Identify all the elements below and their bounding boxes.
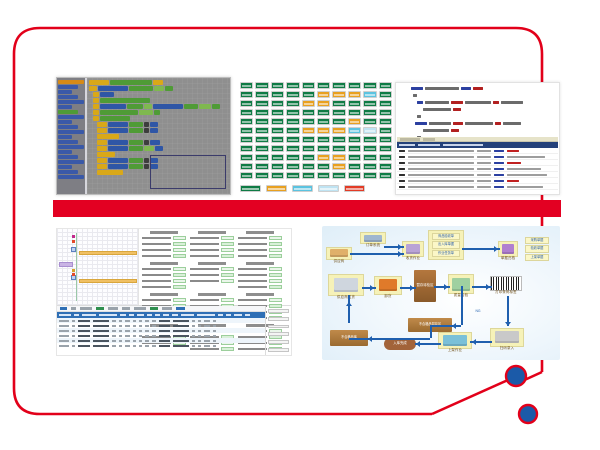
block-0-1[interactable] (110, 80, 152, 85)
status-cell-85[interactable] (317, 154, 330, 161)
palette-block-9[interactable] (58, 125, 78, 129)
form-row-1-2[interactable] (190, 248, 234, 252)
status-cell-69[interactable] (379, 136, 392, 143)
status-cell-52[interactable] (271, 127, 284, 134)
form-row-5-2[interactable] (238, 279, 282, 283)
block-7-0[interactable] (97, 122, 107, 127)
block-10-1[interactable] (108, 140, 128, 145)
block-8-0[interactable] (97, 128, 107, 133)
status-cell-4[interactable] (302, 82, 315, 89)
status-cell-90[interactable] (240, 163, 253, 170)
block-row-2[interactable] (93, 92, 228, 97)
palette-block-18[interactable] (58, 170, 78, 174)
form-group-13[interactable] (190, 355, 234, 356)
status-cell-61[interactable] (255, 136, 268, 143)
status-cell-31[interactable] (255, 109, 268, 116)
status-cell-26[interactable] (332, 100, 345, 107)
status-cell-76[interactable] (332, 145, 345, 152)
table-col-header-4[interactable] (120, 314, 126, 316)
table-col-header-16[interactable] (245, 314, 250, 316)
block-4-6[interactable] (199, 104, 211, 109)
palette-block-5[interactable] (58, 105, 72, 109)
table-col-header-2[interactable] (82, 314, 96, 316)
palette-block-12[interactable] (58, 140, 78, 144)
status-cell-55[interactable] (317, 127, 330, 134)
status-cell-9[interactable] (379, 82, 392, 89)
status-cell-0[interactable] (240, 82, 253, 89)
toolbar-chip-0[interactable] (60, 307, 67, 310)
status-cell-99[interactable] (379, 163, 392, 170)
block-10-3[interactable] (144, 140, 149, 145)
status-cell-20[interactable] (240, 100, 253, 107)
table-side-buttons[interactable] (265, 306, 291, 355)
block-11-4[interactable] (155, 146, 163, 151)
status-cell-13[interactable] (286, 91, 299, 98)
block-1-3[interactable] (154, 86, 164, 91)
block-11-2[interactable] (129, 146, 143, 151)
palette-block-11[interactable] (58, 135, 72, 139)
block-15-0[interactable] (97, 170, 123, 175)
form-row-1-1[interactable] (190, 242, 234, 246)
status-cell-5[interactable] (317, 82, 330, 89)
form-row-4-2[interactable] (190, 279, 234, 283)
status-cell-1[interactable] (255, 82, 268, 89)
form-value[interactable] (269, 248, 282, 252)
status-cell-75[interactable] (317, 145, 330, 152)
status-cell-16[interactable] (332, 91, 345, 98)
form-value[interactable] (173, 242, 186, 246)
form-value[interactable] (269, 279, 282, 283)
form-data-blocks[interactable] (139, 229, 291, 305)
gantt-bar-1[interactable] (79, 279, 137, 283)
palette-block-4[interactable] (58, 100, 84, 104)
table-row[interactable] (57, 343, 265, 348)
block-2-0[interactable] (93, 92, 99, 97)
status-cell-59[interactable] (379, 127, 392, 134)
status-cell-58[interactable] (363, 127, 376, 134)
table-side-button-2[interactable] (268, 325, 289, 329)
toolbar-chip-6[interactable] (134, 307, 146, 310)
status-cell-106[interactable] (332, 172, 345, 179)
form-value[interactable] (269, 267, 282, 271)
table-col-header-13[interactable] (218, 314, 223, 316)
block-7-1[interactable] (108, 122, 128, 127)
form-row-2-2[interactable] (238, 248, 282, 252)
form-value[interactable] (221, 248, 234, 252)
form-group-1[interactable] (190, 231, 234, 260)
form-value[interactable] (269, 298, 282, 302)
block-5-1[interactable] (100, 110, 138, 115)
form-value[interactable] (173, 236, 186, 240)
block-14-1[interactable] (108, 164, 128, 169)
form-value[interactable] (173, 279, 186, 283)
table-col-header-10[interactable] (172, 314, 178, 316)
status-cell-46[interactable] (332, 118, 345, 125)
block-4-3[interactable] (144, 104, 152, 109)
status-cell-72[interactable] (271, 145, 284, 152)
form-value[interactable] (269, 273, 282, 277)
form-group-4[interactable] (190, 262, 234, 291)
form-row-0-0[interactable] (142, 236, 186, 240)
form-group-12[interactable] (142, 355, 186, 356)
status-cell-43[interactable] (286, 118, 299, 125)
status-cell-62[interactable] (271, 136, 284, 143)
block-9-0[interactable] (97, 134, 119, 139)
block-10-4[interactable] (150, 140, 160, 145)
log-row-6[interactable] (397, 184, 558, 190)
form-value[interactable] (221, 279, 234, 283)
status-cell-21[interactable] (255, 100, 268, 107)
log-row-list[interactable] (397, 148, 558, 190)
status-cell-91[interactable] (255, 163, 268, 170)
status-grid[interactable] (240, 82, 392, 179)
palette-block-15[interactable] (58, 155, 78, 159)
form-row-5-1[interactable] (238, 273, 282, 277)
form-row-6-0[interactable] (142, 298, 186, 302)
status-cell-100[interactable] (240, 172, 253, 179)
table-col-header-6[interactable] (137, 314, 144, 316)
block-6-0[interactable] (93, 116, 99, 121)
status-cell-81[interactable] (255, 154, 268, 161)
block-row-1[interactable] (89, 86, 228, 91)
form-row-2-1[interactable] (238, 242, 282, 246)
status-cell-47[interactable] (348, 118, 361, 125)
form-row-1-3[interactable] (190, 254, 234, 258)
form-value[interactable] (221, 273, 234, 277)
table-side-button-1[interactable] (268, 317, 289, 321)
status-cell-12[interactable] (271, 91, 284, 98)
table-side-button-3[interactable] (268, 332, 289, 336)
form-value[interactable] (173, 267, 186, 271)
status-cell-92[interactable] (271, 163, 284, 170)
form-group-14[interactable] (238, 355, 282, 356)
status-cell-87[interactable] (348, 154, 361, 161)
status-cell-17[interactable] (348, 91, 361, 98)
block-10-2[interactable] (129, 140, 143, 145)
table-side-button-4[interactable] (268, 340, 289, 344)
status-cell-68[interactable] (363, 136, 376, 143)
block-8-1[interactable] (108, 128, 128, 133)
form-group-0[interactable] (142, 231, 186, 260)
form-value[interactable] (173, 285, 186, 289)
block-5-0[interactable] (93, 110, 99, 115)
palette-block-19[interactable] (58, 175, 84, 179)
block-row-0[interactable] (89, 80, 228, 85)
status-cell-108[interactable] (363, 172, 376, 179)
status-cell-73[interactable] (286, 145, 299, 152)
status-cell-23[interactable] (286, 100, 299, 107)
form-row-2-3[interactable] (238, 254, 282, 258)
block-row-5[interactable] (93, 110, 228, 115)
table-col-header-15[interactable] (234, 314, 242, 316)
form-value[interactable] (269, 236, 282, 240)
block-2-1[interactable] (100, 92, 114, 97)
table-side-button-0[interactable] (268, 309, 289, 313)
form-value[interactable] (173, 273, 186, 277)
block-row-11[interactable] (97, 146, 228, 151)
status-cell-53[interactable] (286, 127, 299, 134)
status-cell-8[interactable] (363, 82, 376, 89)
block-13-3[interactable] (144, 158, 149, 163)
status-cell-88[interactable] (363, 154, 376, 161)
status-cell-93[interactable] (286, 163, 299, 170)
block-row-8[interactable] (97, 128, 228, 133)
code-text-area[interactable] (396, 83, 559, 137)
blocks-workspace[interactable] (87, 78, 230, 194)
status-cell-34[interactable] (302, 109, 315, 116)
form-row-7-0[interactable] (190, 298, 234, 302)
toolbar-chip-9[interactable] (176, 307, 185, 310)
status-cell-101[interactable] (255, 172, 268, 179)
block-12-0[interactable] (97, 152, 115, 157)
block-7-3[interactable] (144, 122, 149, 127)
block-3-1[interactable] (100, 98, 150, 103)
table-col-header-14[interactable] (226, 314, 231, 316)
gantt-node-0[interactable] (71, 247, 76, 252)
block-4-2[interactable] (127, 104, 143, 109)
form-value[interactable] (221, 236, 234, 240)
status-cell-22[interactable] (271, 100, 284, 107)
status-cell-37[interactable] (348, 109, 361, 116)
toolbar-chip-2[interactable] (80, 307, 92, 310)
status-cell-42[interactable] (271, 118, 284, 125)
status-cell-86[interactable] (332, 154, 345, 161)
form-row-5-3[interactable] (238, 285, 282, 289)
block-5-2[interactable] (139, 110, 153, 115)
block-4-4[interactable] (153, 104, 183, 109)
status-cell-19[interactable] (379, 91, 392, 98)
toolbar-chip-7[interactable] (150, 307, 158, 310)
status-cell-32[interactable] (271, 109, 284, 116)
table-col-header-0[interactable] (59, 314, 71, 316)
palette-block-1[interactable] (58, 85, 78, 89)
palette-block-2[interactable] (58, 90, 72, 94)
form-group-5[interactable] (238, 262, 282, 291)
palette-block-7[interactable] (58, 115, 84, 119)
form-row-8-0[interactable] (238, 298, 282, 302)
block-4-1[interactable] (100, 104, 126, 109)
status-cell-15[interactable] (317, 91, 330, 98)
status-cell-57[interactable] (348, 127, 361, 134)
palette-block-14[interactable] (58, 150, 72, 154)
status-cell-7[interactable] (348, 82, 361, 89)
toolbar-chip-8[interactable] (162, 307, 172, 310)
block-8-4[interactable] (150, 128, 158, 133)
status-cell-95[interactable] (317, 163, 330, 170)
form-row-3-0[interactable] (142, 267, 186, 271)
status-cell-104[interactable] (302, 172, 315, 179)
status-cell-40[interactable] (240, 118, 253, 125)
block-14-0[interactable] (97, 164, 107, 169)
status-cell-67[interactable] (348, 136, 361, 143)
form-row-4-1[interactable] (190, 273, 234, 277)
status-cell-38[interactable] (363, 109, 376, 116)
status-cell-3[interactable] (286, 82, 299, 89)
status-cell-35[interactable] (317, 109, 330, 116)
form-value[interactable] (269, 242, 282, 246)
status-cell-54[interactable] (302, 127, 315, 134)
status-cell-41[interactable] (255, 118, 268, 125)
status-cell-109[interactable] (379, 172, 392, 179)
table-col-header-1[interactable] (74, 314, 79, 316)
table-col-header-9[interactable] (163, 314, 169, 316)
toolbar-chip-4[interactable] (108, 307, 118, 310)
record-table[interactable] (57, 306, 265, 355)
status-cell-105[interactable] (317, 172, 330, 179)
block-0-0[interactable] (89, 80, 109, 85)
status-cell-24[interactable] (302, 100, 315, 107)
toolbar-chip-3[interactable] (96, 307, 104, 310)
block-8-3[interactable] (144, 128, 149, 133)
form-value[interactable] (173, 298, 186, 302)
table-col-header-11[interactable] (181, 314, 194, 316)
form-value[interactable] (269, 254, 282, 258)
block-4-0[interactable] (93, 104, 99, 109)
block-3-0[interactable] (93, 98, 99, 103)
status-cell-103[interactable] (286, 172, 299, 179)
block-row-10[interactable] (97, 140, 228, 145)
block-7-2[interactable] (129, 122, 143, 127)
status-cell-70[interactable] (240, 145, 253, 152)
block-row-6[interactable] (93, 116, 228, 121)
status-cell-77[interactable] (348, 145, 361, 152)
table-col-header-12[interactable] (197, 314, 215, 316)
status-cell-64[interactable] (302, 136, 315, 143)
status-cell-48[interactable] (363, 118, 376, 125)
form-value[interactable] (269, 285, 282, 289)
form-row-0-3[interactable] (142, 254, 186, 258)
status-cell-71[interactable] (255, 145, 268, 152)
palette-block-0[interactable] (58, 80, 84, 84)
block-0-2[interactable] (153, 80, 163, 85)
status-cell-44[interactable] (302, 118, 315, 125)
status-cell-84[interactable] (302, 154, 315, 161)
blocks-palette[interactable] (57, 78, 87, 194)
toolbar-chip-5[interactable] (122, 307, 130, 310)
status-cell-56[interactable] (332, 127, 345, 134)
status-cell-39[interactable] (379, 109, 392, 116)
block-row-9[interactable] (97, 134, 228, 139)
form-value[interactable] (221, 254, 234, 258)
block-11-1[interactable] (108, 146, 128, 151)
table-col-header-8[interactable] (155, 314, 160, 316)
table-col-header-5[interactable] (129, 314, 134, 316)
form-row-3-1[interactable] (142, 273, 186, 277)
status-cell-29[interactable] (379, 100, 392, 107)
status-cell-14[interactable] (302, 91, 315, 98)
status-cell-30[interactable] (240, 109, 253, 116)
block-row-3[interactable] (93, 98, 228, 103)
palette-block-16[interactable] (58, 160, 84, 164)
status-cell-49[interactable] (379, 118, 392, 125)
form-row-1-0[interactable] (190, 236, 234, 240)
status-cell-25[interactable] (317, 100, 330, 107)
status-cell-89[interactable] (379, 154, 392, 161)
status-cell-6[interactable] (332, 82, 345, 89)
status-cell-2[interactable] (271, 82, 284, 89)
block-row-7[interactable] (97, 122, 228, 127)
status-cell-83[interactable] (286, 154, 299, 161)
status-cell-45[interactable] (317, 118, 330, 125)
status-cell-96[interactable] (332, 163, 345, 170)
status-cell-94[interactable] (302, 163, 315, 170)
form-row-4-0[interactable] (190, 267, 234, 271)
table-col-header-3[interactable] (99, 314, 117, 316)
palette-block-8[interactable] (58, 120, 72, 124)
form-value[interactable] (221, 267, 234, 271)
status-cell-80[interactable] (240, 154, 253, 161)
table-col-header-7[interactable] (147, 314, 152, 316)
table-body[interactable] (57, 318, 265, 348)
form-group-2[interactable] (238, 231, 282, 260)
form-value[interactable] (173, 254, 186, 258)
status-cell-74[interactable] (302, 145, 315, 152)
status-cell-97[interactable] (348, 163, 361, 170)
block-7-4[interactable] (150, 122, 158, 127)
block-11-3[interactable] (144, 146, 154, 151)
status-cell-65[interactable] (317, 136, 330, 143)
form-row-2-0[interactable] (238, 236, 282, 240)
block-4-5[interactable] (184, 104, 198, 109)
status-cell-50[interactable] (240, 127, 253, 134)
palette-block-3[interactable] (58, 95, 78, 99)
block-1-4[interactable] (165, 86, 173, 91)
palette-block-17[interactable] (58, 165, 72, 169)
status-cell-33[interactable] (286, 109, 299, 116)
palette-block-10[interactable] (58, 130, 84, 134)
status-cell-78[interactable] (363, 145, 376, 152)
gantt-chart[interactable] (57, 229, 139, 305)
status-cell-27[interactable] (348, 100, 361, 107)
block-6-1[interactable] (100, 116, 130, 121)
status-cell-10[interactable] (240, 91, 253, 98)
block-5-3[interactable] (154, 110, 160, 115)
form-row-3-2[interactable] (142, 279, 186, 283)
form-row-0-1[interactable] (142, 242, 186, 246)
table-side-button-5[interactable] (268, 348, 289, 352)
block-11-0[interactable] (97, 146, 107, 151)
status-cell-66[interactable] (332, 136, 345, 143)
toolbar-chip-1[interactable] (71, 307, 76, 310)
palette-block-13[interactable] (58, 145, 84, 149)
status-cell-51[interactable] (255, 127, 268, 134)
status-cell-102[interactable] (271, 172, 284, 179)
status-cell-107[interactable] (348, 172, 361, 179)
status-cell-79[interactable] (379, 145, 392, 152)
form-row-5-0[interactable] (238, 267, 282, 271)
form-row-0-2[interactable] (142, 248, 186, 252)
form-value[interactable] (173, 248, 186, 252)
form-value[interactable] (221, 298, 234, 302)
form-row-3-3[interactable] (142, 285, 186, 289)
block-13-0[interactable] (97, 158, 107, 163)
block-row-4[interactable] (93, 104, 228, 109)
status-cell-98[interactable] (363, 163, 376, 170)
block-13-1[interactable] (108, 158, 128, 163)
block-14-2[interactable] (129, 164, 143, 169)
status-cell-60[interactable] (240, 136, 253, 143)
block-4-7[interactable] (212, 104, 220, 109)
status-cell-82[interactable] (271, 154, 284, 161)
block-13-2[interactable] (129, 158, 143, 163)
palette-block-6[interactable] (58, 110, 78, 114)
status-cell-28[interactable] (363, 100, 376, 107)
block-1-0[interactable] (89, 86, 97, 91)
status-cell-18[interactable] (363, 91, 376, 98)
form-group-3[interactable] (142, 262, 186, 291)
block-1-2[interactable] (129, 86, 153, 91)
form-value[interactable] (221, 242, 234, 246)
